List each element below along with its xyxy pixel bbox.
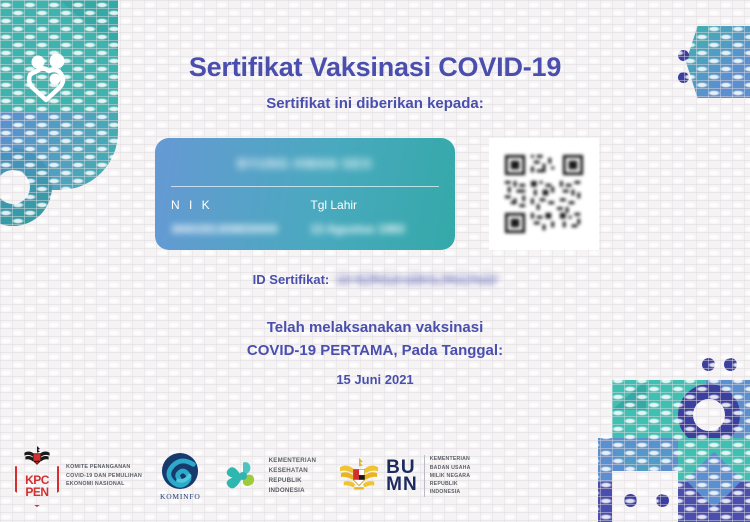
kpcpen-mark: KPC PEN [14, 445, 60, 507]
vaccination-date: 15 Juni 2021 [0, 372, 750, 387]
bumn-acronym: BU MN [386, 459, 418, 494]
kpcpen-logo: KPC PEN KOMITE PENANGANAN COVID-19 DAN P… [14, 445, 142, 507]
kominfo-spiral-icon [161, 452, 199, 490]
statement-line-2: COVID-19 PERTAMA, Pada Tanggal: [0, 339, 750, 362]
certificate-id-value: 00-82fb5dcd8b3c5641fa92 [337, 272, 497, 287]
kpcpen-caption-line-2: COVID-19 DAN PEMULIHAN [66, 472, 142, 480]
bumn-caption-line-3: MILIK NEGARA [430, 472, 471, 480]
kemenkes-caption-line-3: REPUBLIK [269, 476, 317, 486]
kemenkes-caption-line-1: KEMENTERIAN [269, 456, 317, 466]
bumn-caption: KEMENTERIAN BADAN USAHA MILIK NEGARA REP… [424, 455, 471, 497]
kpcpen-caption-line-1: KOMITE PENANGANAN [66, 463, 142, 471]
kemenkes-logo: KEMENTERIAN KESEHATAN REPUBLIK INDONESIA [223, 456, 317, 496]
garuda-pancasila-icon [338, 456, 380, 496]
certificate-id-label: ID Sertifikat: [253, 272, 330, 287]
vaccination-statement: Telah melaksanakan vaksinasi COVID-19 PE… [0, 316, 750, 363]
garuda-emblem-icon [22, 445, 52, 466]
kominfo-logo: KOMINFO [160, 452, 201, 501]
card-divider [171, 186, 439, 187]
bumn-caption-line-5: INDONESIA [430, 488, 471, 496]
bumn-acronym-line-2: MN [386, 476, 418, 493]
kominfo-label: KOMINFO [160, 492, 201, 501]
nik-value: 3660281308830000 [171, 222, 310, 236]
birthdate-label: Tgl Lahir [310, 198, 439, 212]
card-value-row: 3660281308830000 13 Agustus 1983 [171, 222, 439, 236]
holder-identity-card: BYUNG HWAN SEO N I K Tgl Lahir 366028130… [155, 138, 455, 250]
footer-logos: KPC PEN KOMITE PENANGANAN COVID-19 DAN P… [14, 438, 471, 514]
kpcpen-caption-line-3: EKONOMI NASIONAL [66, 480, 142, 488]
bumn-logo: BU MN KEMENTERIAN BADAN USAHA MILIK NEGA… [338, 455, 470, 497]
kemenkes-caption-line-2: KESEHATAN [269, 466, 317, 476]
page-title: Sertifikat Vaksinasi COVID-19 [0, 52, 750, 83]
bumn-caption-line-2: BADAN USAHA [430, 464, 471, 472]
vaccination-certificate: Sertifikat Vaksinasi COVID-19 Sertifikat… [0, 0, 750, 522]
qr-code-icon[interactable] [502, 152, 586, 236]
certificate-id-row: ID Sertifikat: 00-82fb5dcd8b3c5641fa92 [0, 272, 750, 287]
nik-label: N I K [171, 198, 310, 212]
kpcpen-acronym-line-2: PEN [25, 486, 48, 498]
birthdate-value: 13 Agustus 1983 [310, 222, 439, 236]
statement-line-1: Telah melaksanakan vaksinasi [0, 316, 750, 339]
kemenkes-caption-line-4: INDONESIA [269, 486, 317, 496]
bumn-caption-line-4: REPUBLIK [430, 480, 471, 488]
qr-code-panel[interactable] [489, 138, 599, 250]
kemenkes-clover-icon [223, 459, 263, 493]
holder-name: BYUNG HWAN SEO [155, 156, 455, 171]
kemenkes-caption: KEMENTERIAN KESEHATAN REPUBLIK INDONESIA [269, 456, 317, 496]
certificate-subtitle: Sertifikat ini diberikan kepada: [0, 95, 750, 112]
kpcpen-shield: KPC PEN [15, 466, 59, 507]
bumn-caption-line-1: KEMENTERIAN [430, 455, 471, 463]
kpcpen-caption: KOMITE PENANGANAN COVID-19 DAN PEMULIHAN… [66, 463, 142, 488]
card-label-row: N I K Tgl Lahir [171, 198, 439, 212]
kpcpen-acronym-line-1: KPC [25, 474, 49, 486]
